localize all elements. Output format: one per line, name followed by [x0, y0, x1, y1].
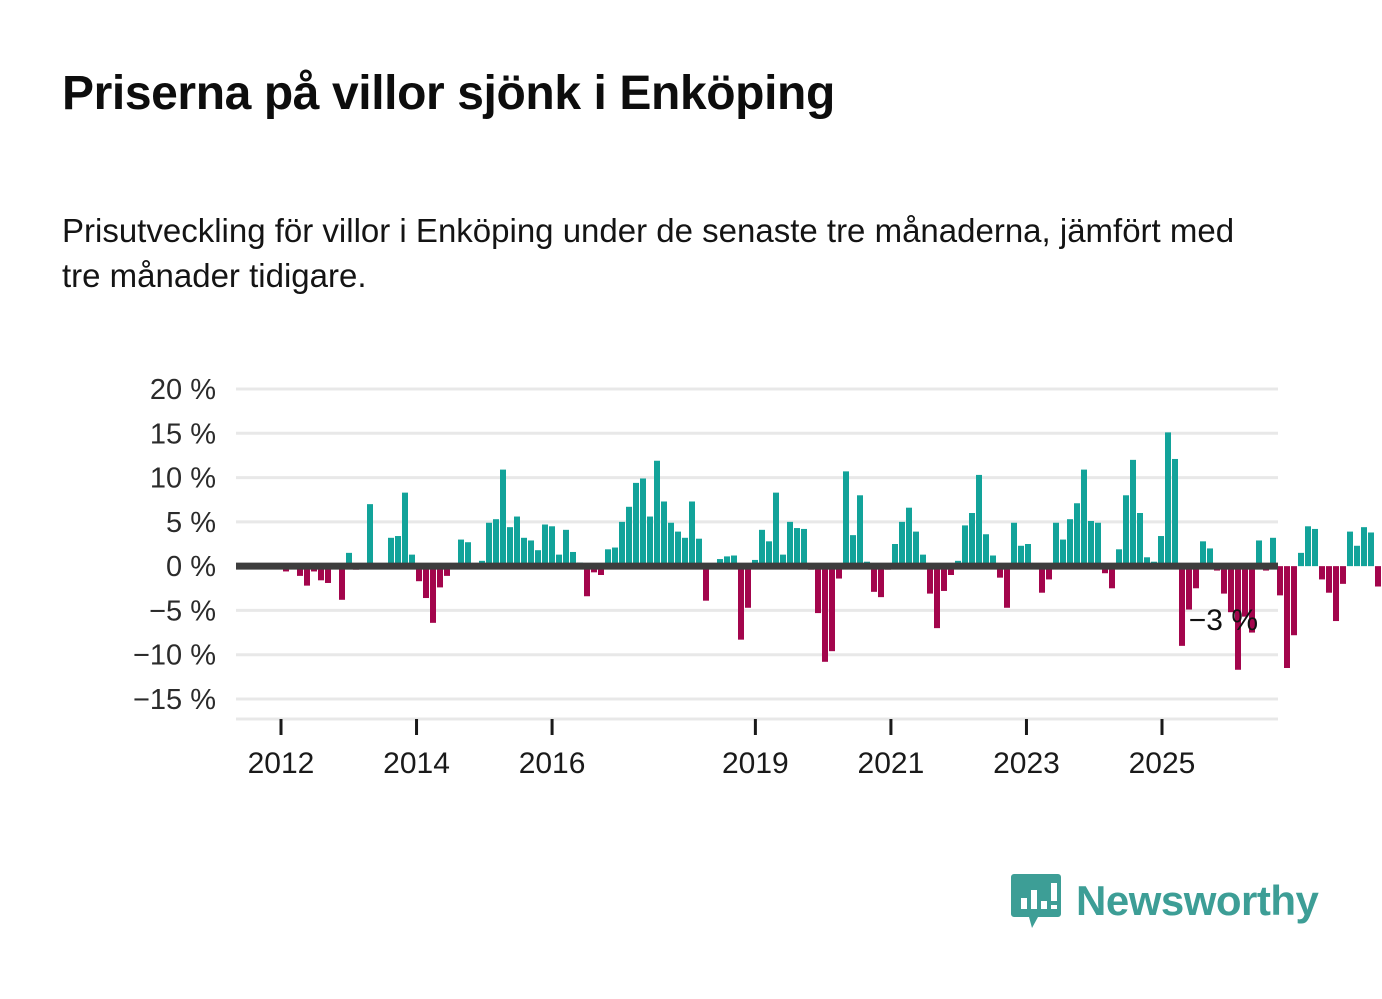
bar — [843, 471, 849, 566]
bar — [388, 538, 394, 566]
bar — [430, 566, 436, 623]
x-tick-label: 2025 — [1129, 747, 1196, 780]
chart-page: Priserna på villor sjönk i Enköping Pris… — [0, 0, 1382, 999]
bar — [1067, 519, 1073, 566]
y-tick-label: 5 % — [166, 507, 216, 539]
bar — [1221, 566, 1227, 593]
bar — [1060, 540, 1066, 567]
bar — [906, 508, 912, 566]
bar — [857, 495, 863, 566]
bar — [339, 566, 345, 600]
bar — [1354, 546, 1360, 566]
value-annotation: −3 % — [1189, 604, 1258, 637]
bar — [395, 536, 401, 566]
bar — [563, 530, 569, 566]
bar — [766, 541, 772, 566]
y-tick-label: 10 % — [150, 463, 216, 495]
bar — [1179, 566, 1185, 646]
bar — [759, 530, 765, 566]
bar — [528, 540, 534, 566]
bar — [661, 501, 667, 566]
bar — [1368, 532, 1374, 566]
bar — [1095, 523, 1101, 566]
bar-chart: 201220142016201920212023202520 %15 %10 %… — [0, 0, 1382, 999]
bar — [976, 475, 982, 566]
bar — [1039, 566, 1045, 593]
bar — [1326, 566, 1332, 593]
bar — [682, 538, 688, 566]
bar — [801, 529, 807, 566]
y-tick-label: −5 % — [149, 595, 216, 627]
y-tick-label: 15 % — [150, 418, 216, 450]
bar — [1172, 459, 1178, 566]
bar — [668, 523, 674, 566]
bar — [1298, 553, 1304, 566]
x-tick-label: 2014 — [383, 747, 450, 780]
bar — [1011, 523, 1017, 566]
bar — [458, 540, 464, 567]
y-tick-label: 20 % — [150, 374, 216, 406]
bar — [1081, 470, 1087, 567]
x-tick-label: 2016 — [519, 747, 586, 780]
x-tick-label: 2012 — [248, 747, 315, 780]
bar — [1200, 541, 1206, 566]
x-tick-label: 2019 — [722, 747, 789, 780]
newsworthy-logo: Newsworthy — [1010, 872, 1318, 930]
bar — [696, 539, 702, 566]
bar — [675, 532, 681, 567]
x-tick-label: 2023 — [993, 747, 1060, 780]
bar — [871, 566, 877, 592]
bar — [367, 504, 373, 566]
bar — [1158, 536, 1164, 566]
bar — [493, 519, 499, 566]
bar — [1340, 566, 1346, 584]
bar — [619, 522, 625, 566]
bar — [507, 527, 513, 566]
bar — [899, 522, 905, 566]
bar — [703, 566, 709, 601]
bar — [934, 566, 940, 628]
y-tick-label: −10 % — [133, 640, 216, 672]
bar — [647, 517, 653, 567]
bar — [1305, 526, 1311, 566]
bar — [850, 535, 856, 566]
bar-chart-speech-bubble-icon — [1010, 872, 1062, 930]
x-tick-label: 2021 — [858, 747, 925, 780]
bar — [745, 566, 751, 608]
bar — [983, 534, 989, 566]
bar — [738, 566, 744, 640]
bar — [640, 478, 646, 566]
y-tick-label: 0 % — [166, 551, 216, 583]
bar — [878, 566, 884, 597]
bar — [773, 493, 779, 567]
bar — [794, 528, 800, 566]
bar — [787, 522, 793, 566]
bar — [1088, 521, 1094, 566]
bar — [514, 517, 520, 567]
bar — [654, 461, 660, 566]
bar — [1130, 460, 1136, 566]
bar — [1137, 513, 1143, 566]
bar — [486, 523, 492, 566]
bar — [1333, 566, 1339, 621]
bar — [549, 526, 555, 566]
bar — [829, 566, 835, 651]
bar — [1277, 566, 1283, 595]
bar — [500, 470, 506, 567]
bar — [1375, 566, 1381, 586]
bar — [1319, 566, 1325, 579]
bar — [633, 483, 639, 566]
bar — [1165, 432, 1171, 566]
bar — [815, 566, 821, 613]
bar — [1270, 538, 1276, 566]
bar — [941, 566, 947, 591]
bar — [1347, 532, 1353, 567]
bar — [1074, 503, 1080, 566]
bar — [626, 507, 632, 566]
bar — [1053, 523, 1059, 566]
bar — [402, 493, 408, 567]
bar — [521, 538, 527, 566]
bar — [1256, 540, 1262, 566]
bar — [423, 566, 429, 598]
bar — [542, 525, 548, 567]
bar — [1004, 566, 1010, 608]
bar — [969, 513, 975, 566]
y-tick-label: −15 % — [133, 684, 216, 716]
bar — [584, 566, 590, 596]
bar — [1284, 566, 1290, 668]
newsworthy-wordmark: Newsworthy — [1076, 877, 1318, 925]
bar — [822, 566, 828, 662]
bar — [1291, 566, 1297, 635]
bar — [927, 566, 933, 593]
bar — [913, 532, 919, 567]
bar — [1123, 495, 1129, 566]
bar — [1312, 529, 1318, 566]
bar — [689, 501, 695, 566]
bar — [1361, 527, 1367, 566]
bar — [962, 525, 968, 566]
bar — [465, 542, 471, 566]
